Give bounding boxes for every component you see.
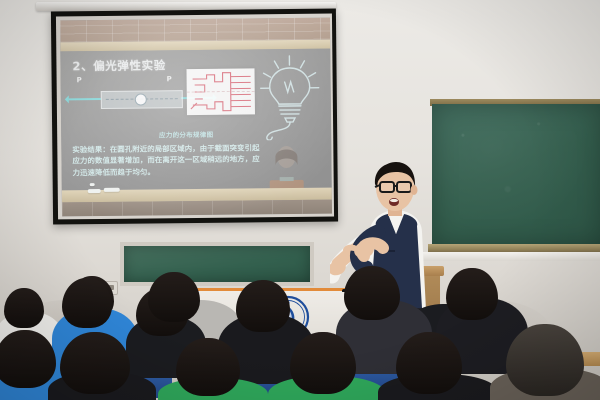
student-head: [236, 280, 290, 332]
chalk-pieces-icon: [88, 188, 128, 194]
student-head: [176, 338, 240, 396]
slide-label-p-left: P: [77, 76, 82, 84]
slide-body-text: 实验结果：在圆孔附近的局部区域内，由于截面突变引起应力的数值显著增加，而在离开这…: [72, 142, 264, 178]
student-head: [62, 278, 112, 328]
projector-screen-frame: 2、偏光弹性实验 P P: [51, 9, 338, 225]
presentation-slide: 2、偏光弹性实验 P P: [60, 18, 332, 217]
student-head: [506, 324, 584, 396]
student-head: [290, 332, 356, 394]
slide-figure-caption: 应力的分布规律图: [111, 128, 261, 140]
student-head: [4, 288, 44, 328]
lower-chalkboard: [124, 246, 310, 282]
student-head: [344, 266, 400, 320]
slide-brick-texture: [60, 18, 330, 43]
slide-floor: [62, 200, 332, 217]
slide-title: 2、偏光弹性实验: [72, 57, 165, 74]
circular-hole-icon: [135, 93, 147, 105]
tension-arrow-left-icon: [69, 98, 101, 100]
audience: [0, 280, 600, 400]
student-head: [60, 332, 130, 394]
projector-screen-surface: 2、偏光弹性实验 P P: [56, 14, 334, 220]
seated-student-icon: [263, 144, 310, 192]
slide-label-p-right: P: [167, 75, 172, 83]
student-head: [148, 272, 200, 322]
stress-distribution-diagram: [187, 68, 255, 115]
lecture-hall-photo: 2、偏光弹性实验 P P: [0, 0, 600, 400]
lightbulb-icon: [256, 54, 323, 141]
student-head: [396, 332, 462, 394]
student-head: [446, 268, 498, 320]
